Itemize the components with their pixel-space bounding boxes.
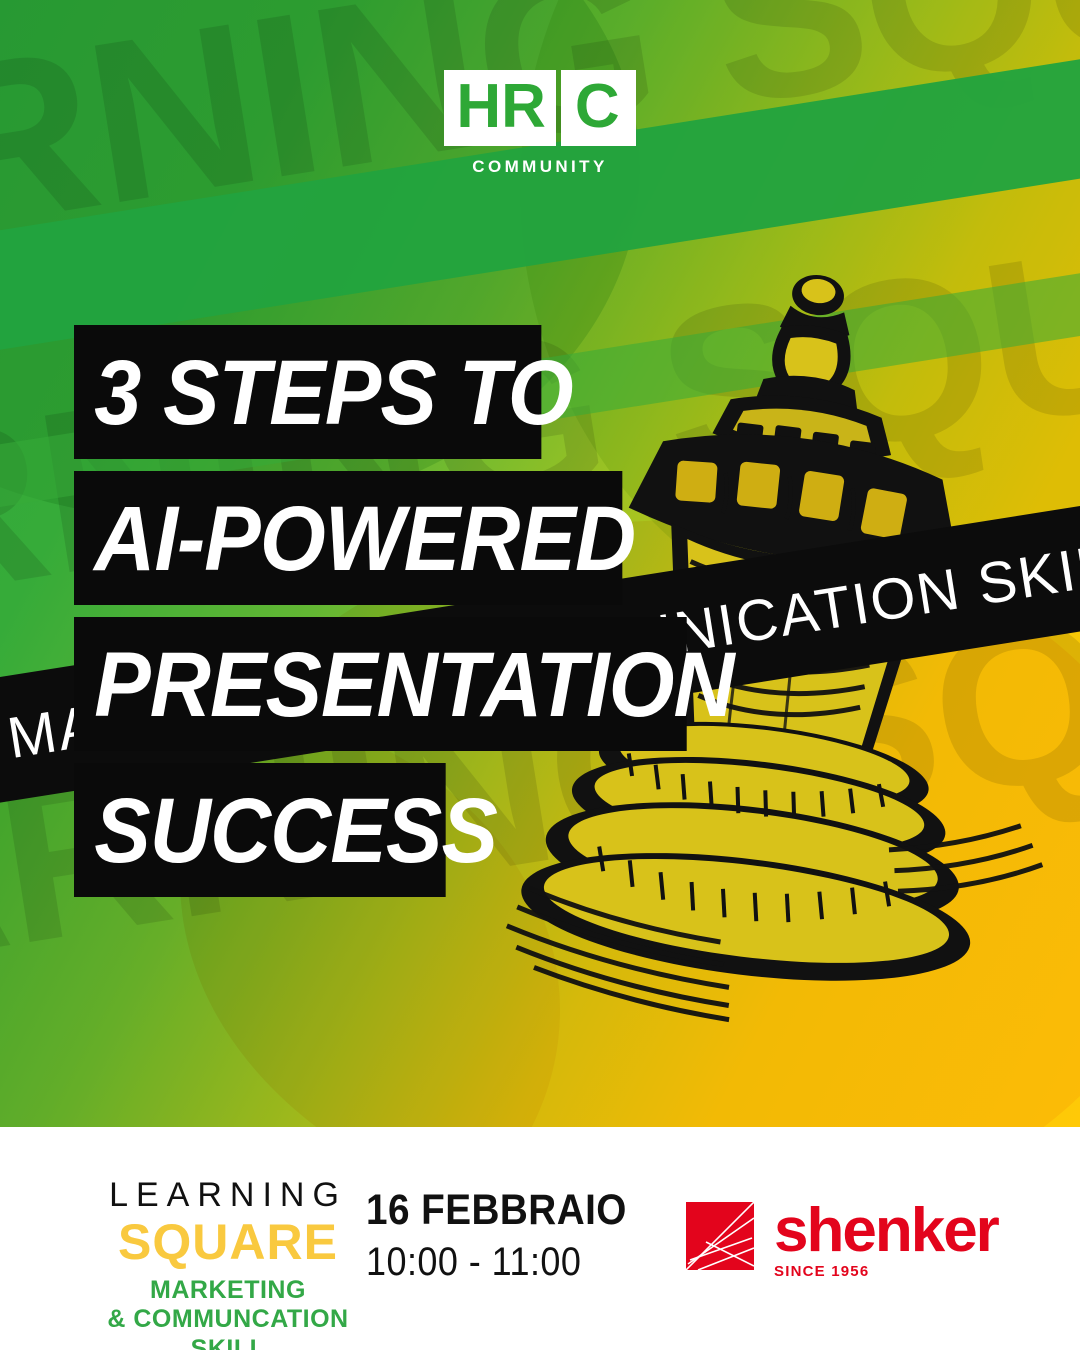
shenker-tagline: SINCE 1956 (774, 1263, 998, 1280)
shenker-name: shenker (774, 1202, 998, 1259)
learning-square-subtitle-line-1: MARKETING (78, 1276, 378, 1306)
hero-section: RNING SQU RNING SQU ARNING SQU (0, 0, 1080, 1127)
headline-line-1: 3 STEPS TO (74, 325, 541, 459)
poster: RNING SQU RNING SQU ARNING SQU (0, 0, 1080, 1350)
hrc-logo-subtitle: COMMUNITY (0, 157, 1080, 177)
event-date: 16 FEBBRAIO (366, 1186, 627, 1234)
hrc-logo-letter-c: C (561, 70, 636, 146)
learning-square-logo: LEARNING SQUARE MARKETING & COMMUNCATION… (78, 1178, 378, 1350)
learning-square-word-learning: LEARNING (78, 1178, 378, 1212)
headline: 3 STEPS TO AI-POWERED PRESENTATION SUCCE… (74, 325, 740, 897)
headline-line-3: PRESENTATION (74, 617, 687, 751)
headline-line-4: SUCCESS (74, 763, 446, 897)
hrc-logo-letters-hr: HR (444, 70, 556, 146)
event-datetime: 16 FEBBRAIO 10:00 - 11:00 (366, 1186, 656, 1286)
headline-line-2: AI-POWERED (74, 471, 622, 605)
hrc-logo-blocks: HR C (444, 70, 635, 146)
shenker-mark-icon (686, 1202, 754, 1270)
learning-square-subtitle-line-2: & COMMUNCATION SKILL (78, 1305, 378, 1350)
event-time: 10:00 - 11:00 (366, 1238, 627, 1286)
learning-square-word-square: SQUARE (78, 1216, 378, 1269)
shenker-logo: shenker SINCE 1956 (686, 1202, 998, 1280)
shenker-wordmark: shenker SINCE 1956 (774, 1202, 998, 1280)
hrc-logo: HR C COMMUNITY (0, 70, 1080, 177)
